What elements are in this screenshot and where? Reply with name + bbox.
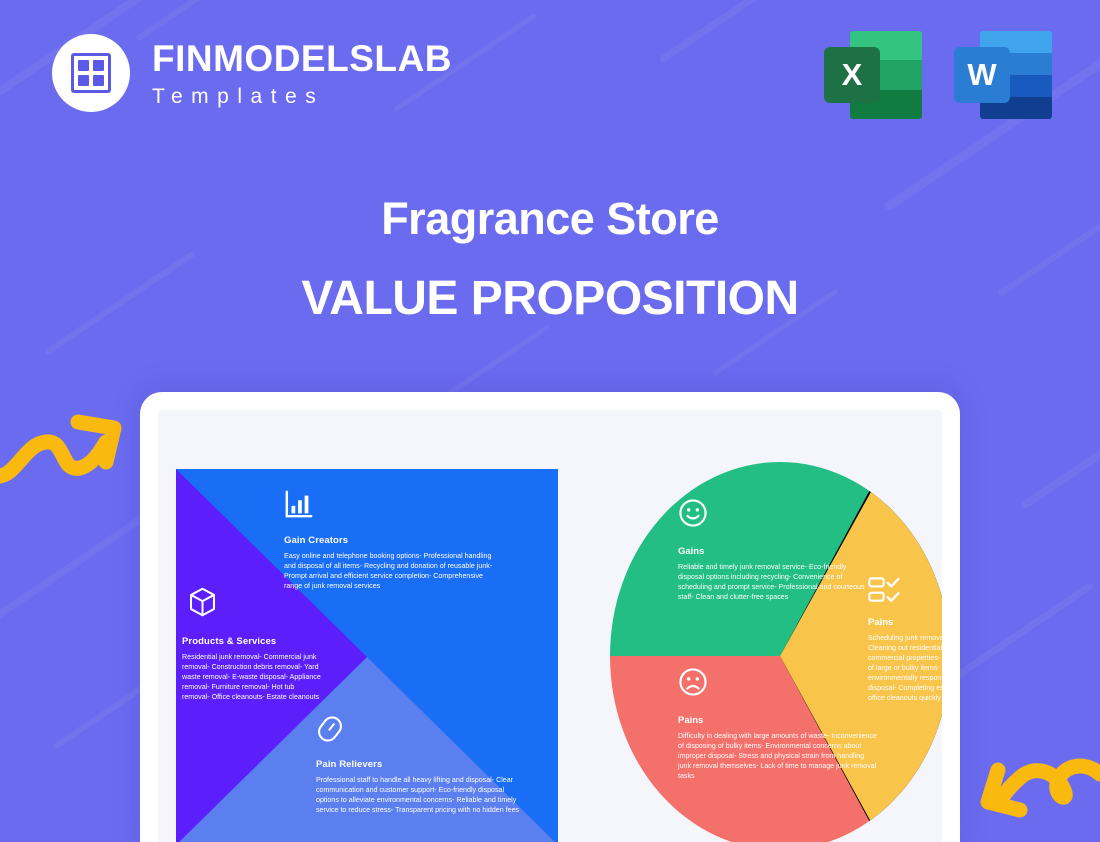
brand-name: FINMODELSLAB [152, 40, 452, 77]
checklist-icon [868, 575, 902, 605]
title-block: Fragrance Store VALUE PROPOSITION [0, 196, 1100, 323]
smiley-happy-icon [678, 498, 708, 528]
word-letter: W [954, 47, 1010, 103]
segment-products-services[interactable]: Products & Services Residential junk rem… [182, 636, 322, 702]
segment-body: Easy online and telephone booking option… [284, 551, 498, 591]
segment-body: Difficulty in dealing with large amounts… [678, 731, 878, 781]
segment-label: Gains [678, 546, 874, 557]
curvy-arrow-up-right-icon [0, 404, 124, 490]
segment-label: Pains [868, 617, 942, 628]
grid-squares-icon [52, 34, 130, 112]
segment-gain-creators[interactable]: Gain Creators Easy online and telephone … [284, 535, 498, 591]
segment-label: Pains [678, 715, 878, 726]
brand-tagline: Templates [152, 86, 452, 107]
segment-body: Residential junk removal- Commercial jun… [182, 652, 322, 702]
segment-label: Pain Relievers [316, 759, 528, 770]
excel-letter: X [824, 47, 880, 103]
page-title: Fragrance Store [0, 196, 1100, 241]
excel-icon[interactable]: X [824, 27, 922, 123]
segment-gains[interactable]: Gains Reliable and timely junk removal s… [678, 546, 874, 602]
segment-body: Reliable and timely junk removal service… [678, 562, 874, 602]
customer-profile[interactable]: Gains Reliable and timely junk removal s… [610, 462, 942, 842]
segment-body: Scheduling junk removal services- Cleani… [868, 633, 942, 703]
segment-customer-jobs[interactable]: Pains Scheduling junk removal services- … [868, 617, 942, 703]
device-mockup: Gain Creators Easy online and telephone … [140, 392, 960, 842]
smiley-sad-icon [678, 667, 708, 697]
segment-pains[interactable]: Pains Difficulty in dealing with large a… [678, 715, 878, 781]
segment-label: Products & Services [182, 636, 322, 647]
segment-pain-relievers[interactable]: Pain Relievers Professional staff to han… [316, 759, 528, 815]
page-subtitle: VALUE PROPOSITION [0, 275, 1100, 323]
brand-logo[interactable]: FINMODELSLAB Templates [52, 34, 452, 112]
package-box-icon [188, 587, 217, 617]
value-map[interactable]: Gain Creators Easy online and telephone … [176, 469, 558, 842]
pill-icon [316, 715, 344, 743]
word-icon[interactable]: W [954, 27, 1052, 123]
segment-body: Professional staff to handle all heavy l… [316, 775, 528, 815]
bar-chart-icon [284, 489, 314, 519]
canvas-screen: Gain Creators Easy online and telephone … [158, 410, 942, 842]
curvy-arrow-down-left-icon [972, 752, 1100, 840]
file-format-badges: X W [824, 27, 1052, 123]
segment-label: Gain Creators [284, 535, 498, 546]
page-header: FINMODELSLAB Templates X W [0, 0, 1100, 150]
